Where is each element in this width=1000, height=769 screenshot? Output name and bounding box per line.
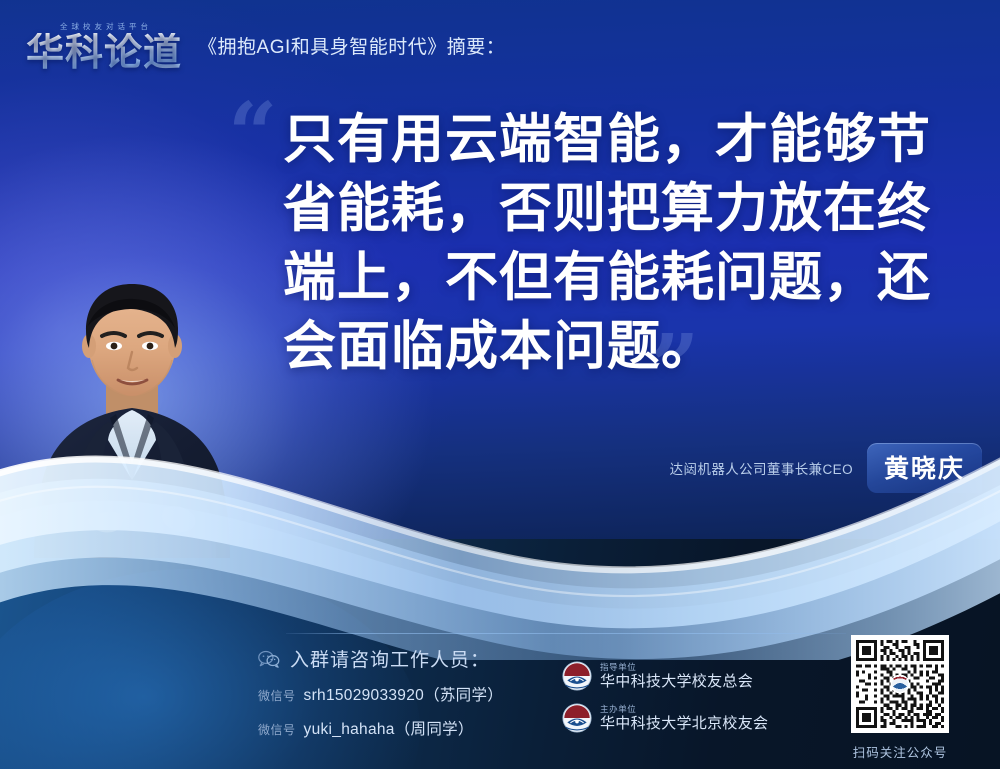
poster-root: 全球校友对话平台 华科论道 《拥抱AGI和具身智能时代》摘要： “ 只有用云端智…	[0, 0, 1000, 769]
university-seal-icon	[562, 703, 592, 733]
header: 全球校友对话平台 华科论道 《拥抱AGI和具身智能时代》摘要：	[0, 0, 1000, 92]
organization-kind: 指导单位	[600, 663, 753, 672]
organization-kind: 主办单位	[600, 705, 768, 714]
organization-texts: 指导单位 华中科技大学校友总会	[600, 663, 753, 690]
university-seal-icon	[562, 661, 592, 691]
wechat-label: 微信号	[258, 721, 296, 738]
wechat-label: 微信号	[258, 687, 296, 704]
wechat-value: srh15029033920（苏同学）	[304, 683, 504, 705]
footer-divider	[286, 633, 846, 634]
organizations-section: 指导单位 华中科技大学校友总会 主办单位 华中科技大学北京校友会	[562, 661, 812, 745]
quote-close-icon: ”	[650, 324, 699, 410]
qr-section: 扫码关注公众号	[838, 635, 962, 761]
contact-heading-row: 入群请咨询工作人员：	[258, 645, 558, 672]
brand-logo: 全球校友对话平台 华科论道	[26, 21, 182, 71]
organization-name: 华中科技大学北京校友会	[600, 716, 768, 732]
speaker-portrait	[28, 268, 236, 558]
organization-texts: 主办单位 华中科技大学北京校友会	[600, 705, 768, 732]
organization-name: 华中科技大学校友总会	[600, 674, 753, 690]
speaker-role: 达闼机器人公司董事长兼CEO	[670, 458, 853, 478]
wechat-row: 微信号 yuki_hahaha（周同学）	[258, 717, 558, 739]
wechat-icon	[258, 650, 280, 668]
qr-caption: 扫码关注公众号	[853, 742, 948, 761]
logo-wordmark: 华科论道	[26, 33, 182, 71]
quote-text: 只有用云端智能，才能够节省能耗，否则把算力放在终端上，不但有能耗问题，还会面临成…	[283, 106, 943, 382]
page-title: 《拥抱AGI和具身智能时代》摘要：	[198, 32, 505, 61]
wechat-value: yuki_hahaha（周同学）	[304, 717, 474, 739]
organization-row: 主办单位 华中科技大学北京校友会	[562, 703, 812, 733]
wechat-row: 微信号 srh15029033920（苏同学）	[258, 683, 558, 705]
quote-open-icon: “	[228, 92, 277, 178]
contact-section: 入群请咨询工作人员： 微信号 srh15029033920（苏同学） 微信号 y…	[258, 645, 558, 751]
organization-row: 指导单位 华中科技大学校友总会	[562, 661, 812, 691]
footer: 入群请咨询工作人员： 微信号 srh15029033920（苏同学） 微信号 y…	[0, 645, 1000, 769]
logo-tagline: 全球校友对话平台	[60, 21, 152, 32]
qr-code[interactable]	[851, 635, 949, 733]
contact-heading: 入群请咨询工作人员：	[290, 645, 490, 672]
speaker-name-badge: 黄晓庆	[867, 443, 982, 493]
